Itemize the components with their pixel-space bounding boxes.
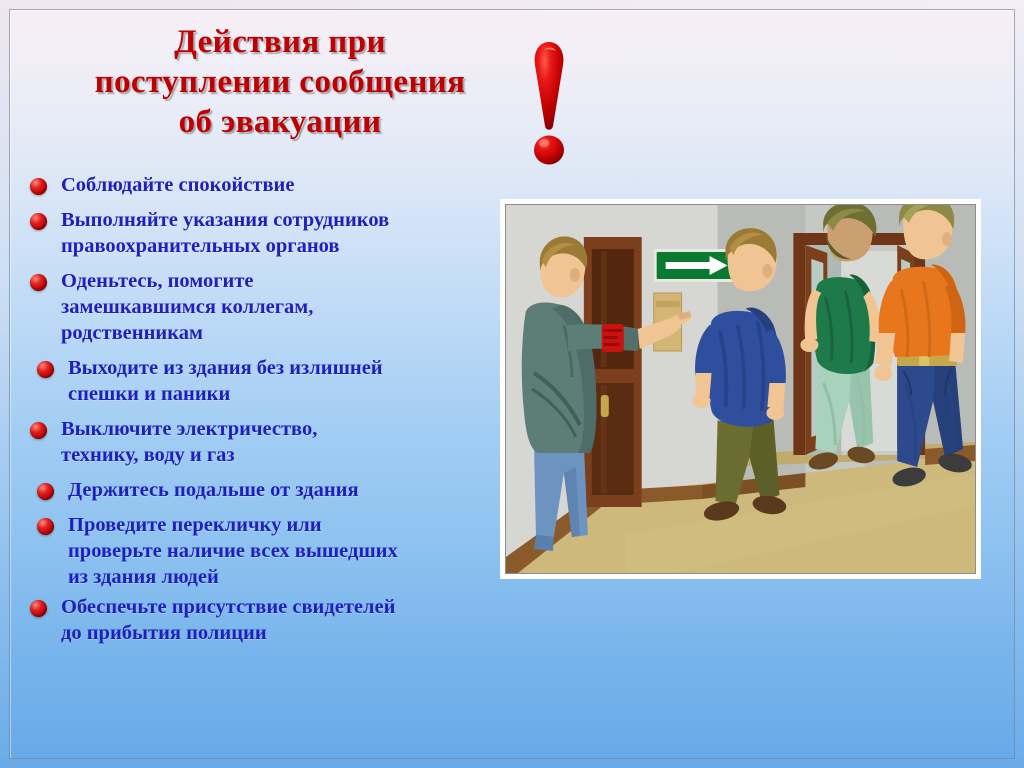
- exclamation-mark-icon: [522, 38, 576, 168]
- page-title: Действия при поступлении сообщения об эв…: [60, 22, 500, 142]
- red-sphere-bullet-icon: [30, 600, 47, 617]
- red-sphere-bullet-icon: [37, 518, 54, 535]
- list-item: Выполняйте указания сотрудников правоохр…: [30, 207, 500, 259]
- list-item-text: Обеспечьте присутствие свидетелей до при…: [61, 594, 500, 646]
- red-sphere-bullet-icon: [30, 274, 47, 291]
- list-item: Держитесь подальше от здания: [37, 477, 500, 503]
- slide-edge-top: [0, 0, 1024, 9]
- slide-canvas: Действия при поступлении сообщения об эв…: [0, 0, 1024, 768]
- evacuation-corridor-illustration: [500, 199, 981, 579]
- instruction-list: Соблюдайте спокойствие Выполняйте указан…: [30, 172, 500, 655]
- list-item-text: Соблюдайте спокойствие: [61, 172, 500, 198]
- red-sphere-bullet-icon: [37, 483, 54, 500]
- illustration-artwork: [506, 205, 975, 573]
- red-sphere-bullet-icon: [30, 422, 47, 439]
- red-sphere-bullet-icon: [37, 361, 54, 378]
- list-item: Оденьтесь, помогите замешкавшимся коллег…: [30, 268, 500, 346]
- list-item: Проведите перекличку или проверьте налич…: [37, 512, 500, 590]
- list-item: Соблюдайте спокойствие: [30, 172, 500, 198]
- list-item-text: Проведите перекличку или проверьте налич…: [68, 512, 500, 590]
- list-item: Выходите из здания без излишней спешки и…: [37, 355, 500, 407]
- list-item-text: Оденьтесь, помогите замешкавшимся коллег…: [61, 268, 500, 346]
- illustration-canvas: [505, 204, 976, 574]
- slide-edge-right: [1015, 0, 1024, 768]
- list-item: Выключите электричество, технику, воду и…: [30, 416, 500, 468]
- list-item-text: Держитесь подальше от здания: [68, 477, 500, 503]
- list-item-text: Выключите электричество, технику, воду и…: [61, 416, 500, 468]
- slide-edge-bottom: [0, 759, 1024, 768]
- list-item: Обеспечьте присутствие свидетелей до при…: [30, 594, 500, 646]
- red-sphere-bullet-icon: [30, 178, 47, 195]
- slide-edge-left: [0, 0, 9, 768]
- red-sphere-bullet-icon: [30, 213, 47, 230]
- list-item-text: Выполняйте указания сотрудников правоохр…: [61, 207, 500, 259]
- list-item-text: Выходите из здания без излишней спешки и…: [68, 355, 500, 407]
